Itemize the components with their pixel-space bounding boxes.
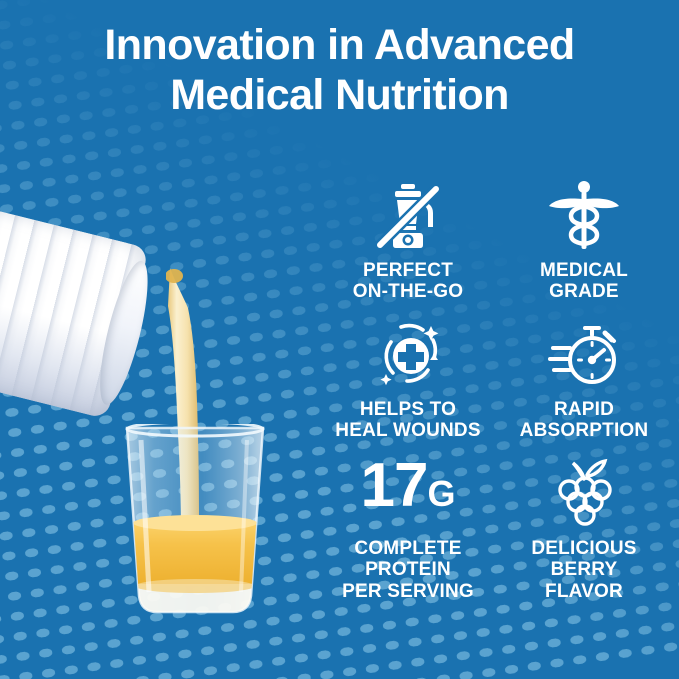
benefits-grid: PERFECT ON-THE-GO MEDICAL GRADE (320, 178, 672, 602)
benefit-caption: COMPLETE PROTEIN PER SERVING (342, 538, 474, 602)
benefit-item: MEDICAL GRADE (496, 178, 672, 303)
benefit-item: DELICIOUS BERRY FLAVOR (496, 456, 672, 602)
headline-line-2: Medical Nutrition (0, 70, 679, 120)
benefit-item: PERFECT ON-THE-GO (320, 178, 496, 303)
protein-grams-unit: G (427, 477, 455, 512)
benefit-caption: MEDICAL GRADE (540, 260, 628, 303)
no-blender-icon (371, 178, 445, 254)
benefit-caption: RAPID ABSORPTION (520, 399, 649, 442)
drinking-glass (115, 424, 275, 618)
benefit-item: RAPID ABSORPTION (496, 317, 672, 442)
headline-line-1: Innovation in Advanced (104, 21, 574, 69)
berry-cluster-icon (547, 456, 621, 532)
protein-stat-value: 17G (361, 456, 456, 532)
protein-grams-number: 17 (361, 456, 428, 516)
bottle: BERRY FLAVOR (0, 184, 182, 426)
benefit-caption: DELICIOUS BERRY FLAVOR (531, 538, 636, 602)
benefit-item: HELPS TO HEAL WOUNDS (320, 317, 496, 442)
healing-cross-icon (371, 317, 445, 393)
product-feature-graphic: Innovation in Advanced Medical Nutrition… (0, 0, 679, 679)
page-title: Innovation in Advanced Medical Nutrition (0, 20, 679, 121)
benefit-item-protein: 17G COMPLETE PROTEIN PER SERVING (320, 456, 496, 602)
benefit-caption: PERFECT ON-THE-GO (353, 260, 464, 303)
benefit-caption: HELPS TO HEAL WOUNDS (335, 399, 480, 442)
stopwatch-speed-icon (547, 317, 621, 393)
caduceus-icon (547, 178, 621, 254)
